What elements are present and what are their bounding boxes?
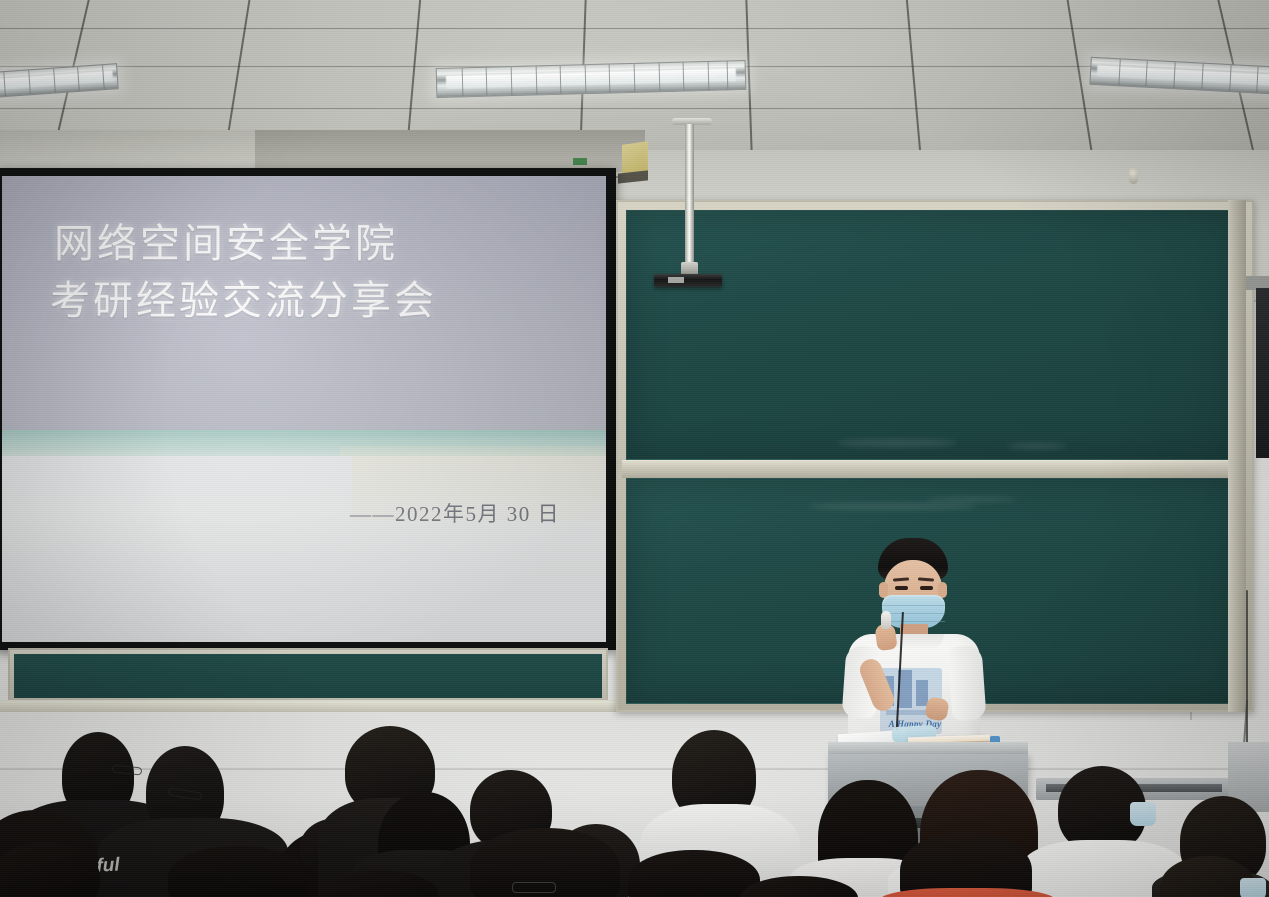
audience-area: ustfful [0,700,1269,897]
wall-soffit-shadow [255,130,645,172]
blackboard-divider-rail [622,460,1244,478]
slide-title-line-1: 网络空间安全学院 [54,221,398,266]
speaker-eye-left [895,586,908,590]
projection-screen: 网络空间安全学院 考研经验交流分享会 ——2022年5月 30 日 [0,168,616,650]
classroom-presentation-photo: 网络空间安全学院 考研经验交流分享会 ——2022年5月 30 日 [0,0,1269,897]
blackboard-right-post [1228,200,1246,712]
wall-hook-icon [1129,168,1138,184]
right-wall-recess [1256,288,1269,458]
speaker-eye-right [920,586,933,590]
microphone-icon [881,611,891,629]
slide-surface: 网络空间安全学院 考研经验交流分享会 ——2022年5月 30 日 [2,176,606,642]
ceiling-light-left [0,63,119,99]
slide-title-line-2: 考研经验交流分享会 [50,273,554,330]
slide-title: 网络空间安全学院 考研经验交流分享会 [54,216,554,330]
projector-mount-pole [685,124,694,274]
slide-date: ——2022年5月 30 日 [350,498,560,528]
blackboard-panel-top [626,210,1240,460]
audience-face-mask [1130,802,1156,826]
left-blackboard-surface [14,654,602,698]
wall-green-label [573,158,587,165]
audience-hair [168,846,308,897]
ceiling-light-right [1089,57,1269,95]
audience-face-mask [1240,878,1266,897]
projector-device [654,274,722,287]
audience-glasses-icon [512,882,556,893]
